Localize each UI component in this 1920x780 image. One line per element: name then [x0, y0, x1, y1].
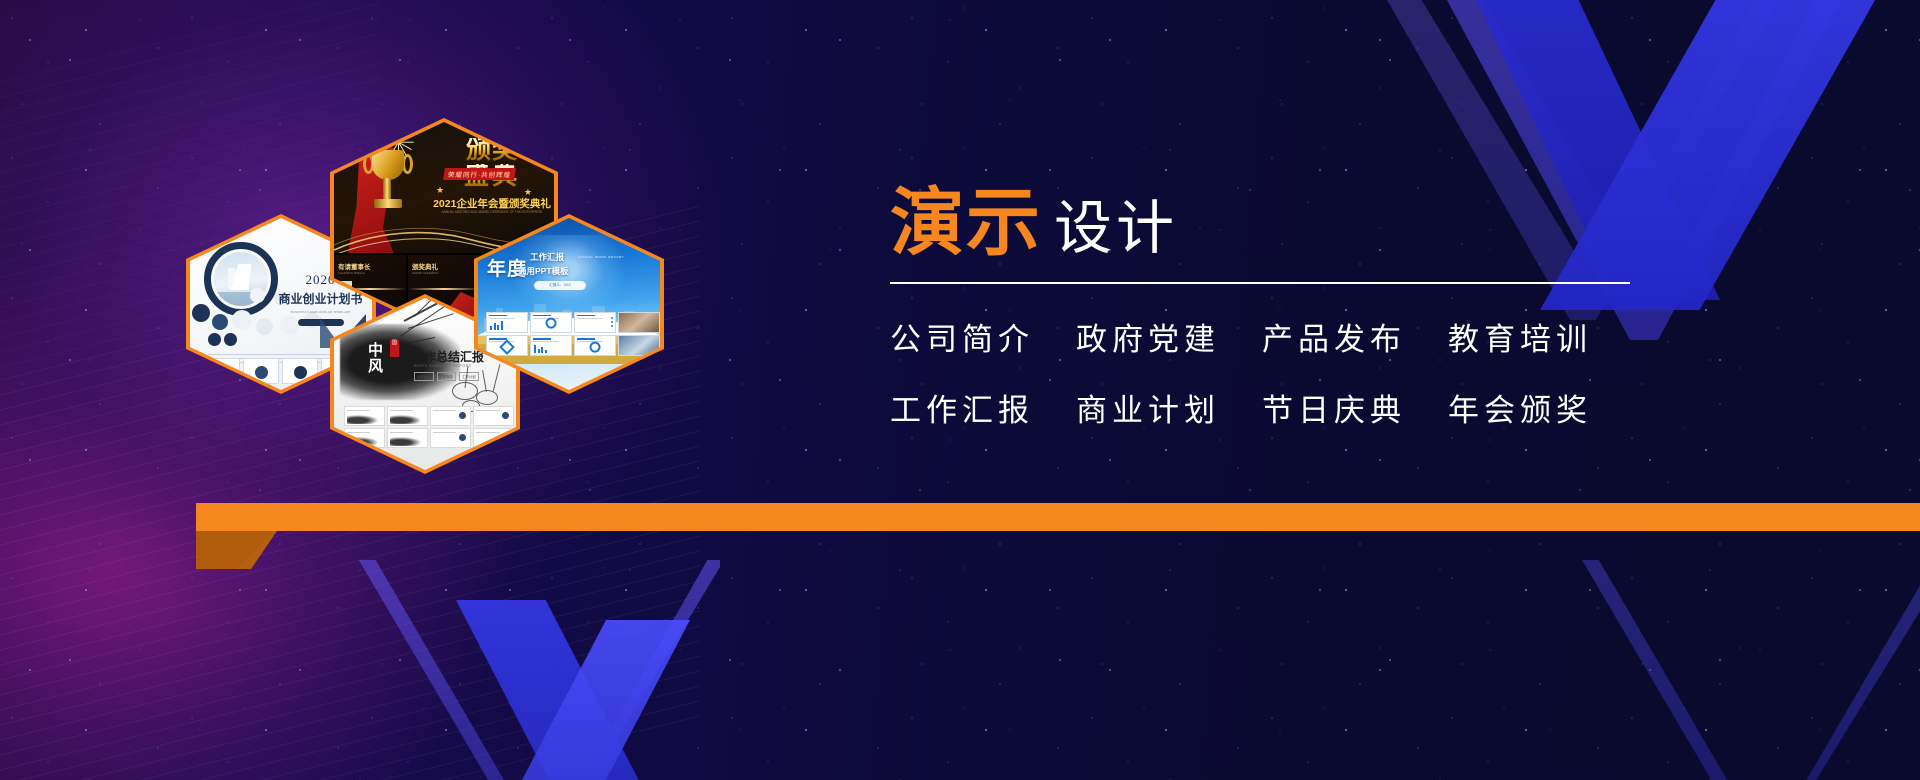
award-band-text: 荣耀同行·共创辉煌 — [443, 168, 516, 180]
card-name: 商业创业计划书 — [268, 290, 372, 307]
chinese-mini-grid — [344, 406, 514, 448]
nav-item-education-training[interactable]: 教育培训 — [1448, 314, 1592, 359]
category-nav-row-2: 工作汇报 商业计划 节日庆典 年会颁奖 — [890, 385, 1630, 430]
banner-root: 2020 商业创业计划书 BUSINESS START-UP PLAN TEMP… — [0, 0, 1920, 780]
award-tiny-caption: ANNUAL MEETING AND AWARD CEREMONY OF THE… — [434, 210, 550, 215]
nav-item-annual-award[interactable]: 年会颁奖 — [1448, 385, 1592, 430]
award-cell-sub: AWARD CEREMONY — [412, 271, 439, 275]
template-thumbnail-cluster: 2020 商业创业计划书 BUSINESS START-UP PLAN TEMP… — [0, 0, 700, 500]
chevron-solid-bottom-left-a — [360, 600, 680, 780]
award-english: HONOR — [517, 144, 552, 153]
annual-tiny-text: ANNUAL WORK REPORT — [578, 255, 624, 259]
nav-item-company-intro[interactable]: 公司简介 — [890, 314, 1034, 359]
chevron-solid-bottom-left-b — [420, 620, 720, 780]
seal-char: 国 — [390, 340, 399, 347]
nav-item-product-launch[interactable]: 产品发布 — [1262, 314, 1406, 359]
report-tag: 年终总结 — [414, 372, 434, 381]
nav-item-business-plan[interactable]: 商业计划 — [1076, 385, 1220, 430]
award-headline: 2021企业年会暨颁奖典礼 — [430, 196, 554, 211]
category-nav-row-1: 公司简介 政府党建 产品发布 教育培训 — [890, 314, 1630, 359]
annual-mid-text: 工作汇报 — [530, 251, 564, 263]
title-underline — [890, 282, 1630, 284]
category-nav: 公司简介 政府党建 产品发布 教育培训 工作汇报 商业计划 节日庆典 年会颁奖 — [890, 314, 1630, 430]
nav-item-work-report[interactable]: 工作汇报 — [890, 385, 1034, 430]
title-orange: 演示 — [890, 186, 1042, 260]
annual-pill: 汇报人：XXX — [534, 281, 586, 290]
page-title: 演示 设计 — [890, 186, 1630, 260]
annual-mini-grid — [486, 312, 660, 356]
trophy-icon — [368, 144, 408, 218]
nav-item-party-building[interactable]: 政府党建 — [1076, 314, 1220, 359]
ink-char-primary: 中 — [368, 344, 383, 359]
award-main-line1: 颁奖 — [430, 138, 554, 162]
annual-pill-text: 汇报人：XXX — [534, 281, 586, 290]
sail-front-icon — [231, 264, 252, 290]
chevron-outline-bottom-left — [300, 560, 720, 780]
title-white: 设计 — [1054, 200, 1178, 258]
award-cell-sub: CHAIRMAN SPEECH — [338, 271, 365, 275]
award-cell-title: 颁奖典礼 — [412, 261, 438, 271]
headline-block: 演示 设计 公司简介 政府党建 产品发布 教育培训 工作汇报 商业计划 节日庆典… — [890, 186, 1630, 456]
chevron-outline-bottom-right — [1540, 560, 1920, 780]
nav-item-festival-celebration[interactable]: 节日庆典 — [1262, 385, 1406, 430]
annual-sub-text: 通用PPT模板 — [518, 265, 569, 277]
ink-char-secondary: 风 — [368, 360, 383, 375]
red-seal-icon: 国 — [390, 340, 399, 357]
orange-divider-bar — [196, 503, 1920, 531]
award-cell-title: 有请董事长 — [338, 261, 371, 271]
award-title-group: 颁奖 盛典 HONOR 荣耀同行·共创辉煌 ★ ★ ★ — [430, 138, 554, 189]
